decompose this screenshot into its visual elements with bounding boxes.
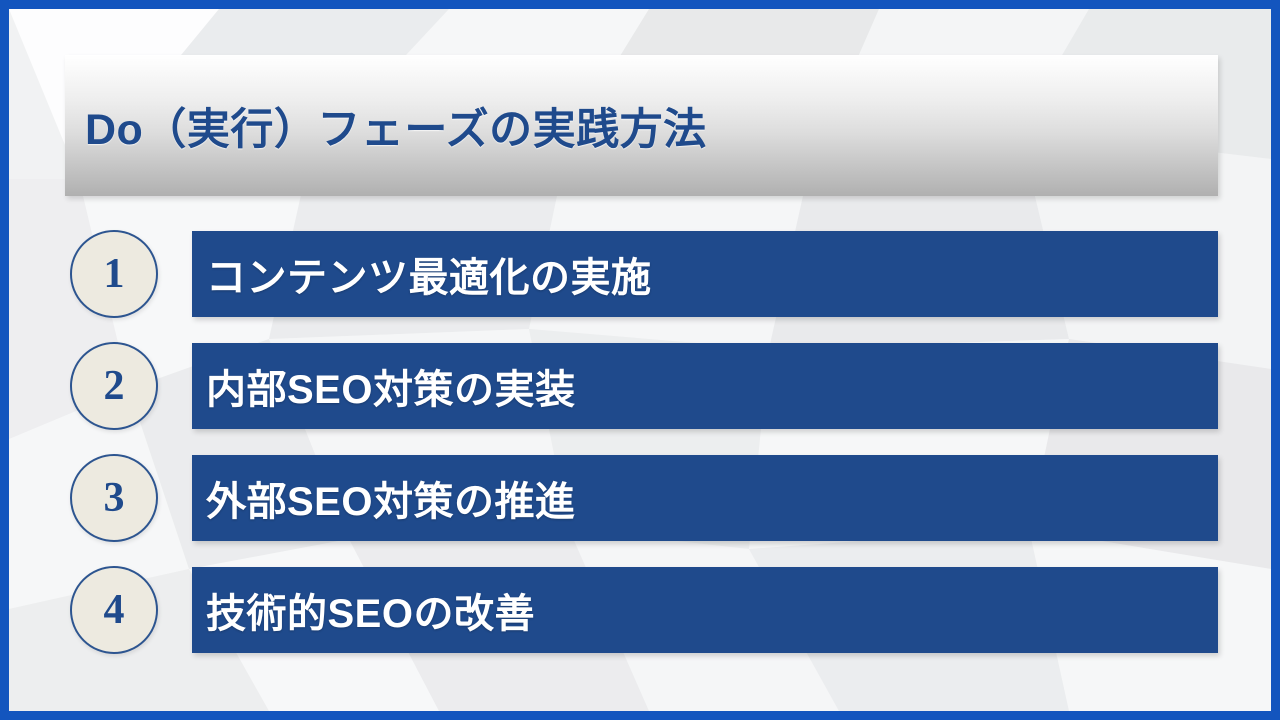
step-number-label: 2 bbox=[104, 365, 125, 407]
page-title: Do（実行）フェーズの実践方法 bbox=[85, 55, 707, 196]
step-number-label: 3 bbox=[104, 477, 125, 519]
step-number-badge: 1 bbox=[70, 230, 158, 318]
step-number-badge: 2 bbox=[70, 342, 158, 430]
list-item[interactable]: 1 コンテンツ最適化の実施 bbox=[9, 231, 1271, 317]
step-bar[interactable]: 外部SEO対策の推進 bbox=[192, 455, 1218, 541]
step-bar[interactable]: コンテンツ最適化の実施 bbox=[192, 231, 1218, 317]
step-list: 1 コンテンツ最適化の実施 2 内部SEO対策の実装 3 外 bbox=[9, 231, 1271, 679]
step-bar[interactable]: 内部SEO対策の実装 bbox=[192, 343, 1218, 429]
step-bar[interactable]: 技術的SEOの改善 bbox=[192, 567, 1218, 653]
slide-root: Do（実行）フェーズの実践方法 1 コンテンツ最適化の実施 2 内部SEO対策の… bbox=[0, 0, 1280, 720]
list-item[interactable]: 4 技術的SEOの改善 bbox=[9, 567, 1271, 653]
step-label: 内部SEO対策の実装 bbox=[192, 357, 575, 415]
step-label: コンテンツ最適化の実施 bbox=[192, 245, 652, 303]
step-number-label: 1 bbox=[104, 253, 125, 295]
slide-canvas: Do（実行）フェーズの実践方法 1 コンテンツ最適化の実施 2 内部SEO対策の… bbox=[9, 9, 1271, 711]
step-number-label: 4 bbox=[104, 589, 125, 631]
step-number-badge: 3 bbox=[70, 454, 158, 542]
step-label: 技術的SEOの改善 bbox=[192, 581, 535, 639]
step-number-badge: 4 bbox=[70, 566, 158, 654]
list-item[interactable]: 3 外部SEO対策の推進 bbox=[9, 455, 1271, 541]
title-band: Do（実行）フェーズの実践方法 bbox=[65, 55, 1218, 196]
list-item[interactable]: 2 内部SEO対策の実装 bbox=[9, 343, 1271, 429]
step-label: 外部SEO対策の推進 bbox=[192, 469, 575, 527]
